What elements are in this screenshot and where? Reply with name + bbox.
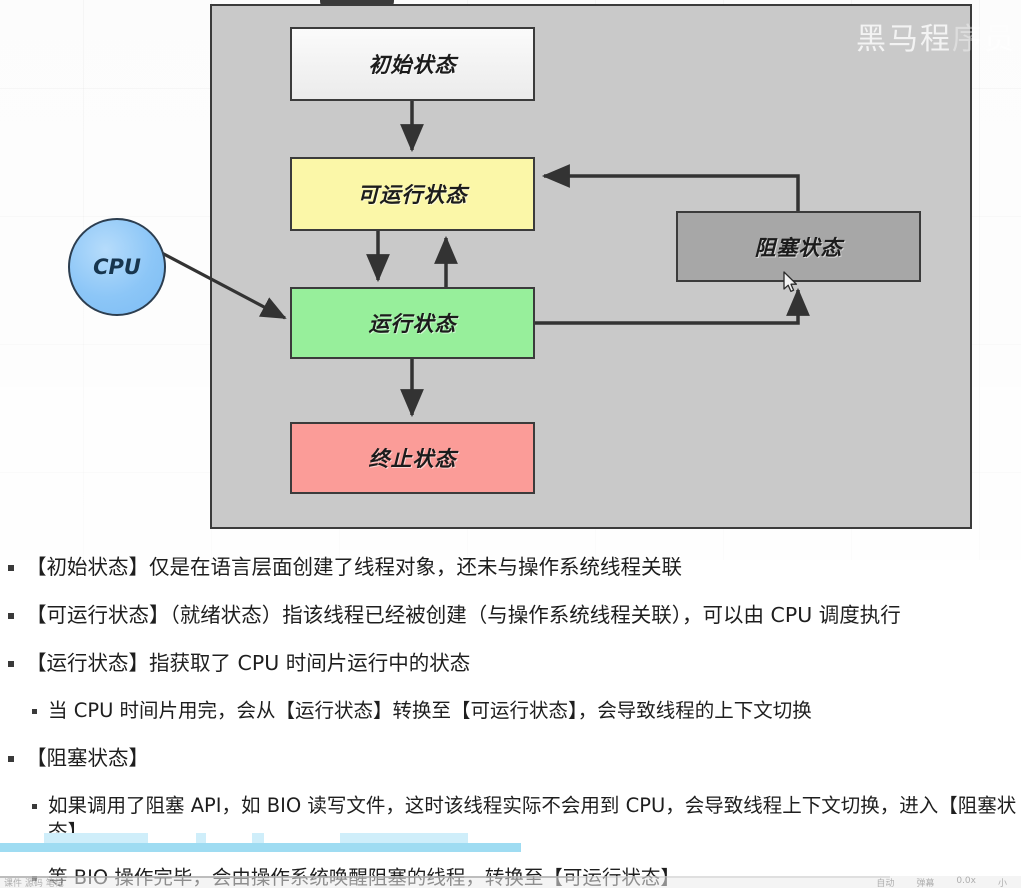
state-node-runnable-label: 可运行状态	[358, 179, 468, 209]
list-item-text: 【可运行状态】（就绪状态）指该线程已经被创建（与操作系统线程关联），可以由 CP…	[26, 602, 1021, 629]
player-control-auto[interactable]: 自动	[876, 876, 894, 888]
player-controls[interactable]: 自动 弹幕 0.0x 小	[876, 876, 1021, 888]
list-item-text: 如果调用了阻塞 API，如 BIO 读写文件，这时该线程实际不会用到 CPU，会…	[48, 793, 1021, 844]
state-node-new[interactable]: 初始状态	[290, 27, 535, 101]
edge-blocked-to-runnable	[544, 176, 798, 211]
list-item: 如果调用了阻塞 API，如 BIO 读写文件，这时该线程实际不会用到 CPU，会…	[0, 793, 1021, 844]
list-item: 【阻塞状态】	[0, 745, 1021, 772]
list-item: 【初始状态】仅是在语言层面创建了线程对象，还未与操作系统线程关联	[0, 554, 1021, 581]
edge-cpu-to-running	[160, 252, 285, 318]
highlight-fleck	[340, 833, 468, 843]
highlight-fleck	[196, 833, 206, 843]
bullet-marker-icon	[32, 804, 37, 809]
state-node-runnable[interactable]: 可运行状态	[290, 157, 535, 231]
highlight-fleck	[252, 833, 264, 843]
notes-list: 【初始状态】仅是在语言层面创建了线程对象，还未与操作系统线程关联 【可运行状态】…	[0, 548, 1021, 888]
state-node-new-label: 初始状态	[369, 49, 457, 79]
video-player-bar[interactable]: 课件 源码 笔记 自动 弹幕 0.0x 小	[0, 876, 1021, 888]
cpu-node-label: CPU	[93, 255, 141, 279]
state-node-running[interactable]: 运行状态	[290, 287, 535, 359]
edge-running-to-blocked	[535, 290, 798, 323]
slide-screenshot: 黑马程序员 初始状态 可运行状态 运行状态 阻塞状态 终止	[0, 0, 1021, 888]
state-node-blocked[interactable]: 阻塞状态	[676, 211, 921, 282]
list-item: 【运行状态】指获取了 CPU 时间片运行中的状态	[0, 650, 1021, 677]
bullet-marker-icon	[32, 709, 37, 714]
player-control-danmaku[interactable]: 弹幕	[916, 876, 934, 888]
state-node-terminated[interactable]: 终止状态	[290, 422, 535, 494]
bullet-marker-icon	[8, 613, 14, 619]
list-item-text: 【初始状态】仅是在语言层面创建了线程对象，还未与操作系统线程关联	[26, 554, 1021, 581]
bullet-marker-icon	[8, 565, 14, 571]
cpu-node[interactable]: CPU	[68, 218, 166, 316]
bullet-marker-icon	[8, 661, 14, 667]
list-item: 当 CPU 时间片用完，会从【运行状态】转换至【可运行状态】，会导致线程的上下文…	[0, 698, 1021, 724]
list-item-text: 【阻塞状态】	[26, 745, 1021, 772]
state-node-terminated-label: 终止状态	[369, 443, 457, 473]
list-item-text: 【运行状态】指获取了 CPU 时间片运行中的状态	[26, 650, 1021, 677]
player-resources-label[interactable]: 课件 源码 笔记	[0, 876, 64, 888]
list-item: 【可运行状态】（就绪状态）指该线程已经被创建（与操作系统线程关联），可以由 CP…	[0, 602, 1021, 629]
state-node-running-label: 运行状态	[369, 308, 457, 338]
state-node-blocked-label: 阻塞状态	[755, 232, 843, 262]
player-control-speed[interactable]: 0.0x	[956, 876, 976, 888]
bullet-marker-icon	[8, 756, 14, 762]
highlight-fleck	[44, 833, 148, 843]
list-item-text: 当 CPU 时间片用完，会从【运行状态】转换至【可运行状态】，会导致线程的上下文…	[48, 698, 1021, 724]
selection-highlight-strip	[0, 843, 521, 852]
player-control-size[interactable]: 小	[998, 876, 1007, 888]
